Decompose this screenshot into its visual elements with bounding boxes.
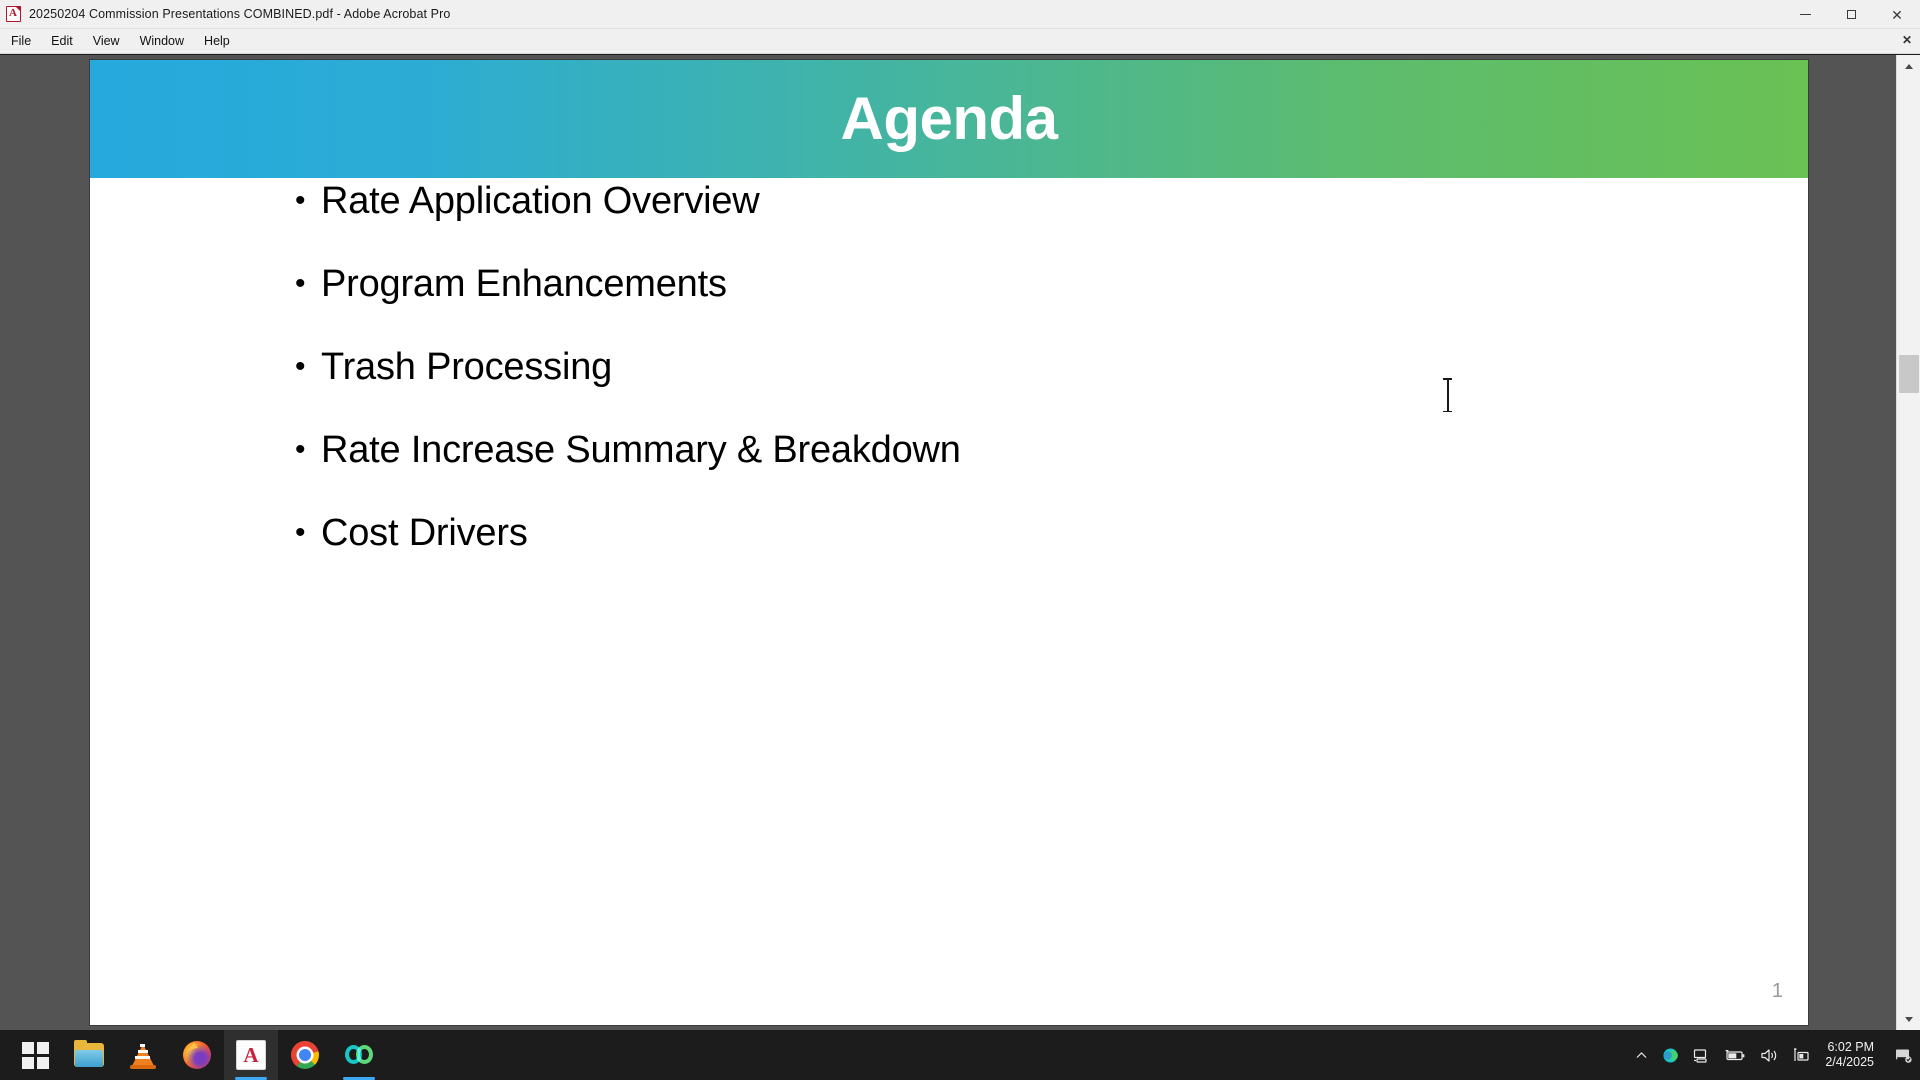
windows-logo-icon [22,1042,49,1069]
minimize-icon [1800,14,1811,15]
pdf-viewer-canvas[interactable]: Agenda • Rate Application Overview • Pro… [0,55,1920,1030]
battery-status-button[interactable] [1717,1030,1753,1080]
scrollbar-thumb[interactable] [1899,355,1919,393]
menu-item-help[interactable]: Help [195,31,239,51]
menu-item-file[interactable]: File [2,31,40,51]
bullet-point-icon: • [295,427,321,473]
close-window-button[interactable]: ✕ [1874,0,1920,29]
vlc-cone-icon [130,1041,156,1069]
menu-item-view[interactable]: View [84,31,129,51]
minimize-button[interactable] [1782,0,1828,29]
system-tray: 6:02 PM 2/4/2025 [1628,1030,1920,1080]
pdf-document-icon: A [5,5,23,23]
pdf-page: Agenda • Rate Application Overview • Pro… [90,60,1808,1025]
webex-button[interactable] [332,1030,386,1080]
bullet-text: Trash Processing [321,344,612,390]
network-status-button[interactable] [1686,1030,1717,1080]
window-titlebar[interactable]: A 20250204 Commission Presentations COMB… [0,0,1920,29]
bullet-point-icon: • [295,178,321,224]
bullet-text: Program Enhancements [321,261,727,307]
scroll-up-button[interactable] [1897,55,1920,77]
bullet-text: Rate Application Overview [321,178,760,224]
maximize-restore-button[interactable] [1828,0,1874,29]
slide-title: Agenda [840,89,1057,149]
list-item: • Rate Increase Summary & Breakdown [90,427,1808,510]
window-controls: ✕ [1782,0,1920,29]
webex-icon [345,1042,373,1068]
display-settings-button[interactable] [1786,1030,1817,1080]
windows-taskbar: A [0,1030,1920,1080]
volume-icon [1760,1048,1779,1063]
bullet-point-icon: • [295,344,321,390]
start-button[interactable] [8,1030,62,1080]
list-item: • Rate Application Overview [90,178,1808,261]
firefox-icon [183,1041,211,1069]
acrobat-icon: A [236,1040,266,1070]
taskbar-clock[interactable]: 6:02 PM 2/4/2025 [1817,1030,1886,1080]
close-document-button[interactable]: ✕ [1902,33,1912,47]
chevron-up-icon [1635,1049,1648,1062]
google-chrome-button[interactable] [278,1030,332,1080]
display-settings-icon [1793,1048,1810,1063]
slide-bullet-list: • Rate Application Overview • Program En… [90,178,1808,593]
webex-tray-icon-button[interactable] [1655,1030,1686,1080]
slide-page-number: 1 [1772,980,1783,1003]
vertical-scrollbar[interactable] [1896,55,1920,1030]
list-item: • Program Enhancements [90,261,1808,344]
list-item: • Cost Drivers [90,510,1808,593]
taskbar-app-list: A [0,1030,386,1080]
file-explorer-button[interactable] [62,1030,116,1080]
webex-tray-icon [1662,1047,1679,1064]
network-icon [1693,1048,1710,1063]
window-title: 20250204 Commission Presentations COMBIN… [29,7,450,21]
scroll-down-button[interactable] [1897,1008,1920,1030]
menu-item-window[interactable]: Window [131,31,193,51]
chevron-down-icon [1905,1017,1913,1022]
chrome-icon [291,1041,319,1069]
slide-header-banner: Agenda [90,60,1808,178]
firefox-button[interactable] [170,1030,224,1080]
battery-icon [1724,1049,1746,1062]
show-hidden-icons-button[interactable] [1628,1030,1655,1080]
bullet-point-icon: • [295,261,321,307]
chevron-up-icon [1905,64,1913,69]
adobe-acrobat-button[interactable]: A [224,1030,278,1080]
folder-icon [74,1043,104,1067]
menu-item-edit[interactable]: Edit [42,31,82,51]
restore-icon [1847,10,1856,19]
volume-button[interactable] [1753,1030,1786,1080]
menu-bar: File Edit View Window Help ✕ [0,29,1920,54]
close-icon: ✕ [1891,8,1903,22]
list-item: • Trash Processing [90,344,1808,427]
clock-date: 2/4/2025 [1825,1055,1874,1070]
notification-icon [1894,1047,1913,1064]
bullet-point-icon: • [295,510,321,556]
vlc-media-player-button[interactable] [116,1030,170,1080]
bullet-text: Cost Drivers [321,510,528,556]
clock-time: 6:02 PM [1827,1040,1874,1055]
notifications-button[interactable] [1886,1030,1920,1080]
bullet-text: Rate Increase Summary & Breakdown [321,427,961,473]
